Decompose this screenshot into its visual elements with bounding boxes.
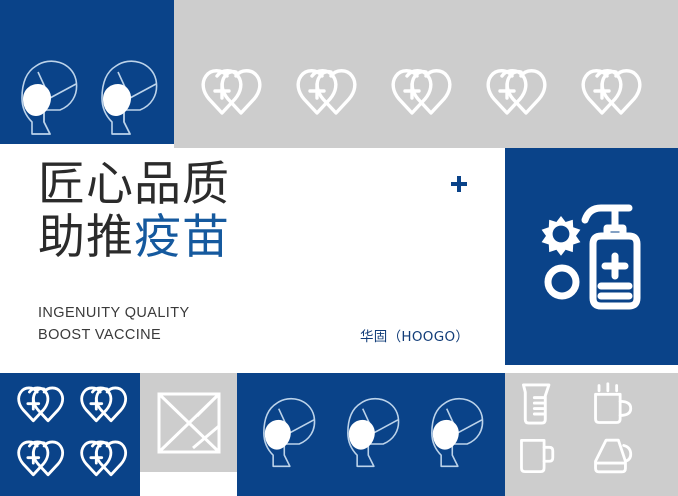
poster-canvas: 匠心品质 助推疫苗 INGENUITY QUALITY BOOST VACCIN…: [0, 0, 678, 496]
dot-icon: [548, 268, 576, 296]
masked-face-icon: [14, 54, 82, 138]
top-left-mask-icon-row: [14, 54, 164, 138]
headline-line-1: 匠心品质: [38, 157, 230, 212]
plus-icon: [451, 176, 467, 192]
mug-icon: [518, 435, 558, 477]
masked-face-icon: [424, 392, 488, 470]
top-band-heart-icon-row: [192, 66, 662, 122]
subheadline-line-1: INGENUITY QUALITY: [38, 302, 190, 324]
double-heart-plus-icon: [10, 381, 69, 431]
headline-line-2-accent: 疫苗: [134, 210, 230, 265]
double-heart-plus-icon: [572, 66, 648, 122]
double-heart-plus-icon: [382, 66, 458, 122]
sanitizer-bottle-icon: [585, 208, 637, 306]
bottom-right-vessel-icon-grid: [518, 381, 648, 479]
double-heart-plus-icon: [10, 435, 69, 485]
double-heart-plus-icon: [477, 66, 553, 122]
double-heart-plus-icon: [192, 66, 268, 122]
kettle-icon: [592, 435, 636, 477]
beaker-icon: [518, 381, 558, 427]
double-heart-plus-icon: [287, 66, 363, 122]
bottom-white-gap: [140, 472, 237, 496]
subheadline-line-2: BOOST VACCINE: [38, 324, 190, 346]
masked-face-icon: [94, 54, 162, 138]
brand-label: 华固（HOOGO）: [360, 325, 469, 345]
steaming-cup-icon: [592, 381, 636, 427]
bottom-center-mask-icon-row: [256, 392, 488, 470]
virus-core: [553, 226, 570, 243]
headline-line-2: 助推疫苗: [38, 211, 230, 264]
double-heart-plus-icon: [73, 381, 132, 431]
masked-face-icon: [256, 392, 320, 470]
subheadline-text: INGENUITY QUALITY BOOST VACCINE: [38, 302, 190, 346]
crossed-square-placeholder-icon: [157, 392, 221, 454]
headline-text: 匠心品质 助推疫苗: [38, 158, 230, 264]
bottom-left-heart-icon-grid: [10, 381, 132, 485]
headline-line-2-dark: 助推: [38, 210, 134, 265]
double-heart-plus-icon: [73, 435, 132, 485]
masked-face-icon: [340, 392, 404, 470]
sanitizer-icon-group: [531, 198, 655, 316]
